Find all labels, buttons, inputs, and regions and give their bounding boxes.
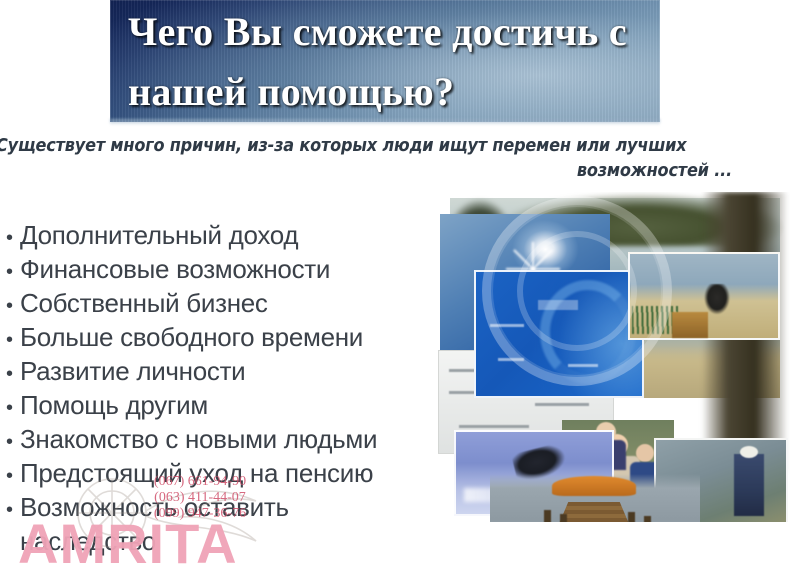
collage-mask xyxy=(432,192,790,522)
subtitle-line-2: возможностей ... xyxy=(0,159,738,184)
title-panel: Чего Вы сможете достичь с нашей помощью? xyxy=(110,0,660,122)
photo-wooden-pier-gazebo xyxy=(490,474,700,522)
pier-post xyxy=(544,510,551,522)
page-title: Чего Вы сможете достичь с нашей помощью? xyxy=(128,2,688,122)
bullet-icon: • xyxy=(6,493,20,527)
doc-line xyxy=(459,425,529,428)
photo-blue-card xyxy=(474,270,644,398)
photo-collage xyxy=(432,192,790,522)
list-item: • Дополнительный доход xyxy=(6,218,456,252)
bullet-icon: • xyxy=(6,221,20,255)
family-head xyxy=(636,444,654,462)
hiker-hat xyxy=(740,446,758,458)
bullet-icon: • xyxy=(6,357,20,391)
beach-chair-shape xyxy=(672,312,708,338)
blue-card-line xyxy=(490,324,524,327)
pier-post xyxy=(644,516,651,522)
subtitle: Существует много причин, из-за которых л… xyxy=(0,134,738,184)
pier-post xyxy=(628,512,635,522)
list-item-label: Помощь другим xyxy=(20,388,456,422)
bullet-icon: • xyxy=(6,459,20,493)
list-item: • Больше свободного времени xyxy=(6,320,456,354)
bullet-icon: • xyxy=(6,323,20,357)
presentation-slide: Чего Вы сможете достичь с нашей помощью?… xyxy=(0,0,803,574)
list-item: • Предстоящий уход на пенсию xyxy=(6,456,456,490)
swirl-shape xyxy=(540,280,636,384)
bullet-icon: • xyxy=(6,425,20,459)
list-item-label: Дополнительный доход xyxy=(20,218,456,252)
list-item-label: Развитие личности xyxy=(20,354,456,388)
bullet-icon: • xyxy=(6,289,20,323)
bullet-icon: • xyxy=(6,255,20,289)
beach-person xyxy=(704,284,730,318)
hiker-figure xyxy=(734,454,764,516)
list-item: • Помощь другим xyxy=(6,388,456,422)
list-item: • Знакомство с новыми людьми xyxy=(6,422,456,456)
blue-card-line xyxy=(568,364,598,367)
list-item: • Возможность оставить xyxy=(6,490,456,524)
list-item-continuation: наследство xyxy=(6,524,456,558)
list-item: • Финансовые возможности xyxy=(6,252,456,286)
pier-post xyxy=(560,514,567,522)
list-item-label: Больше свободного времени xyxy=(20,320,456,354)
photo-beach-chair xyxy=(628,252,780,340)
subtitle-line-1: Существует много причин, из-за которых л… xyxy=(0,134,738,159)
list-item: • Собственный бизнес xyxy=(6,286,456,320)
list-item: • Развитие личности xyxy=(6,354,456,388)
benefits-list: • Дополнительный доход • Финансовые возм… xyxy=(6,218,456,558)
list-item-label: Финансовые возможности xyxy=(20,252,456,286)
list-item-label: Собственный бизнес xyxy=(20,286,456,320)
blue-card-line xyxy=(498,358,524,361)
list-item-label: Знакомство с новыми людьми xyxy=(20,422,456,456)
bullet-icon: • xyxy=(6,391,20,425)
doc-line xyxy=(535,403,589,406)
list-item-label: Предстоящий уход на пенсию xyxy=(20,456,456,490)
gazebo-roof xyxy=(552,476,636,496)
list-item-label: Возможность оставить xyxy=(20,490,456,524)
blue-card-logo xyxy=(538,300,578,310)
